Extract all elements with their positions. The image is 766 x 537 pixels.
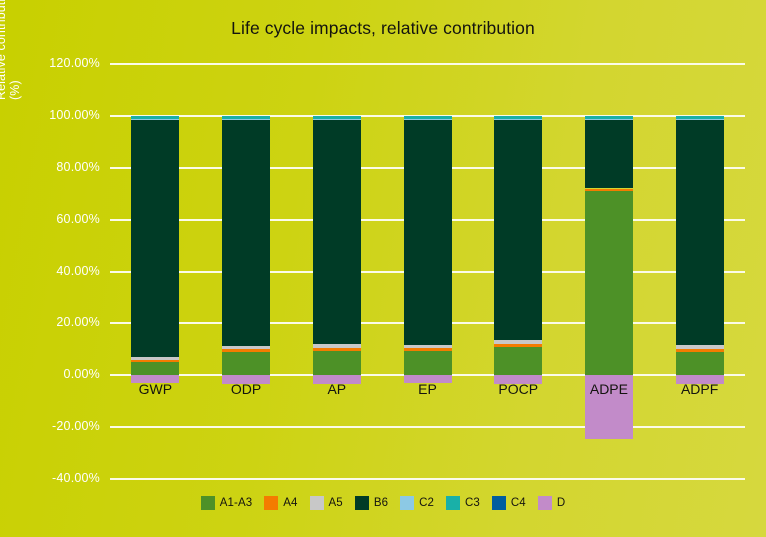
bar-segment-c3[interactable]: [494, 116, 542, 119]
y-axis-title: Relative contributionto environmenta imp…: [0, 0, 22, 100]
y-axis-tick-label: -20.00%: [52, 419, 100, 433]
bar-segment-c2[interactable]: [585, 119, 633, 120]
chart-title: Life cycle impacts, relative contributio…: [0, 18, 766, 39]
x-axis-category-label: ADPF: [658, 381, 742, 397]
bar-segment-b6[interactable]: [222, 119, 270, 346]
bar-segment-a4[interactable]: [131, 360, 179, 362]
bar-segment-c2[interactable]: [131, 119, 179, 120]
y-axis-tick-label: 20.00%: [56, 315, 100, 329]
bar-segment-a1-a3[interactable]: [494, 347, 542, 376]
bar-segment-c3[interactable]: [131, 116, 179, 119]
y-axis-title-wrapper: Relative contributionto environmenta imp…: [0, 0, 100, 470]
bar-segment-c3[interactable]: [404, 116, 452, 119]
bar-segment-c2[interactable]: [676, 119, 724, 120]
legend-label: A1-A3: [220, 497, 252, 509]
legend-label: C4: [511, 497, 526, 509]
y-axis-tick-label: 40.00%: [56, 264, 100, 278]
y-axis-tick-label: -40.00%: [52, 471, 100, 485]
legend-item[interactable]: D: [538, 496, 565, 510]
legend-item[interactable]: A1-A3: [201, 496, 252, 510]
bar-column[interactable]: GWP: [131, 64, 179, 479]
y-axis-tick-label: 80.00%: [56, 160, 100, 174]
bar-column[interactable]: ODP: [222, 64, 270, 479]
legend-swatch-icon: [201, 496, 215, 510]
bar-segment-a4[interactable]: [313, 348, 361, 351]
legend-label: C2: [419, 497, 434, 509]
chart-legend: A1-A3A4A5B6C2C3C4D: [0, 496, 766, 510]
legend-item[interactable]: B6: [355, 496, 388, 510]
x-axis-category-label: ODP: [204, 381, 288, 397]
bar-column[interactable]: EP: [404, 64, 452, 479]
bar-segment-a5[interactable]: [676, 345, 724, 348]
bar-segment-b6[interactable]: [131, 119, 179, 357]
x-axis-category-label: GWP: [113, 381, 197, 397]
chart-container: Life cycle impacts, relative contributio…: [0, 0, 766, 537]
bar-segment-b6[interactable]: [313, 119, 361, 344]
bar-segment-b6[interactable]: [585, 120, 633, 189]
y-axis-tick-label: 100.00%: [49, 108, 100, 122]
x-axis-category-label: ADPE: [567, 381, 651, 397]
bar-segment-a4[interactable]: [676, 349, 724, 352]
y-axis-tick-label: 120.00%: [49, 56, 100, 70]
bar-segment-a1-a3[interactable]: [585, 191, 633, 375]
legend-swatch-icon: [264, 496, 278, 510]
legend-item[interactable]: A4: [264, 496, 297, 510]
legend-label: A4: [283, 497, 297, 509]
y-axis-tick-label: 60.00%: [56, 212, 100, 226]
bar-segment-a4[interactable]: [585, 189, 633, 192]
legend-swatch-icon: [538, 496, 552, 510]
bar-segment-c3[interactable]: [585, 116, 633, 119]
bar-segment-a5[interactable]: [131, 357, 179, 360]
bar-column[interactable]: ADPF: [676, 64, 724, 479]
x-axis-category-label: EP: [386, 381, 470, 397]
legend-item[interactable]: A5: [310, 496, 343, 510]
bar-segment-c2[interactable]: [222, 119, 270, 120]
bar-segment-a4[interactable]: [494, 344, 542, 347]
bar-column[interactable]: AP: [313, 64, 361, 479]
legend-label: C3: [465, 497, 480, 509]
legend-item[interactable]: C3: [446, 496, 480, 510]
bar-segment-a1-a3[interactable]: [676, 352, 724, 375]
x-axis-category-label: POCP: [476, 381, 560, 397]
bar-segment-c2[interactable]: [404, 119, 452, 120]
legend-label: A5: [329, 497, 343, 509]
legend-swatch-icon: [400, 496, 414, 510]
bar-segment-b6[interactable]: [676, 119, 724, 345]
legend-swatch-icon: [355, 496, 369, 510]
bar-segment-a5[interactable]: [222, 346, 270, 349]
legend-swatch-icon: [492, 496, 506, 510]
bar-segment-c2[interactable]: [313, 119, 361, 120]
bar-segment-a1-a3[interactable]: [313, 351, 361, 376]
bar-segment-a5[interactable]: [404, 345, 452, 348]
legend-swatch-icon: [446, 496, 460, 510]
legend-item[interactable]: C2: [400, 496, 434, 510]
bar-segment-a1-a3[interactable]: [131, 362, 179, 375]
bar-segment-c2[interactable]: [494, 119, 542, 120]
bar-segment-c3[interactable]: [676, 116, 724, 119]
legend-item[interactable]: C4: [492, 496, 526, 510]
bar-segment-a5[interactable]: [313, 344, 361, 347]
bar-segment-c3[interactable]: [222, 116, 270, 119]
legend-label: D: [557, 497, 565, 509]
legend-label: B6: [374, 497, 388, 509]
x-axis-category-label: AP: [295, 381, 379, 397]
bar-segment-a1-a3[interactable]: [404, 351, 452, 376]
y-axis-tick-label: 0.00%: [64, 367, 100, 381]
bar-segment-a5[interactable]: [494, 340, 542, 344]
bar-segment-a4[interactable]: [404, 348, 452, 351]
bar-segment-b6[interactable]: [494, 119, 542, 340]
bar-segment-b6[interactable]: [404, 119, 452, 345]
bar-column[interactable]: ADPE: [585, 64, 633, 479]
plot-area: 120.00%100.00%80.00%60.00%40.00%20.00%0.…: [110, 64, 745, 479]
legend-swatch-icon: [310, 496, 324, 510]
bar-segment-c3[interactable]: [313, 116, 361, 119]
bar-segment-a4[interactable]: [222, 349, 270, 352]
bar-segment-a1-a3[interactable]: [222, 352, 270, 375]
bar-column[interactable]: POCP: [494, 64, 542, 479]
